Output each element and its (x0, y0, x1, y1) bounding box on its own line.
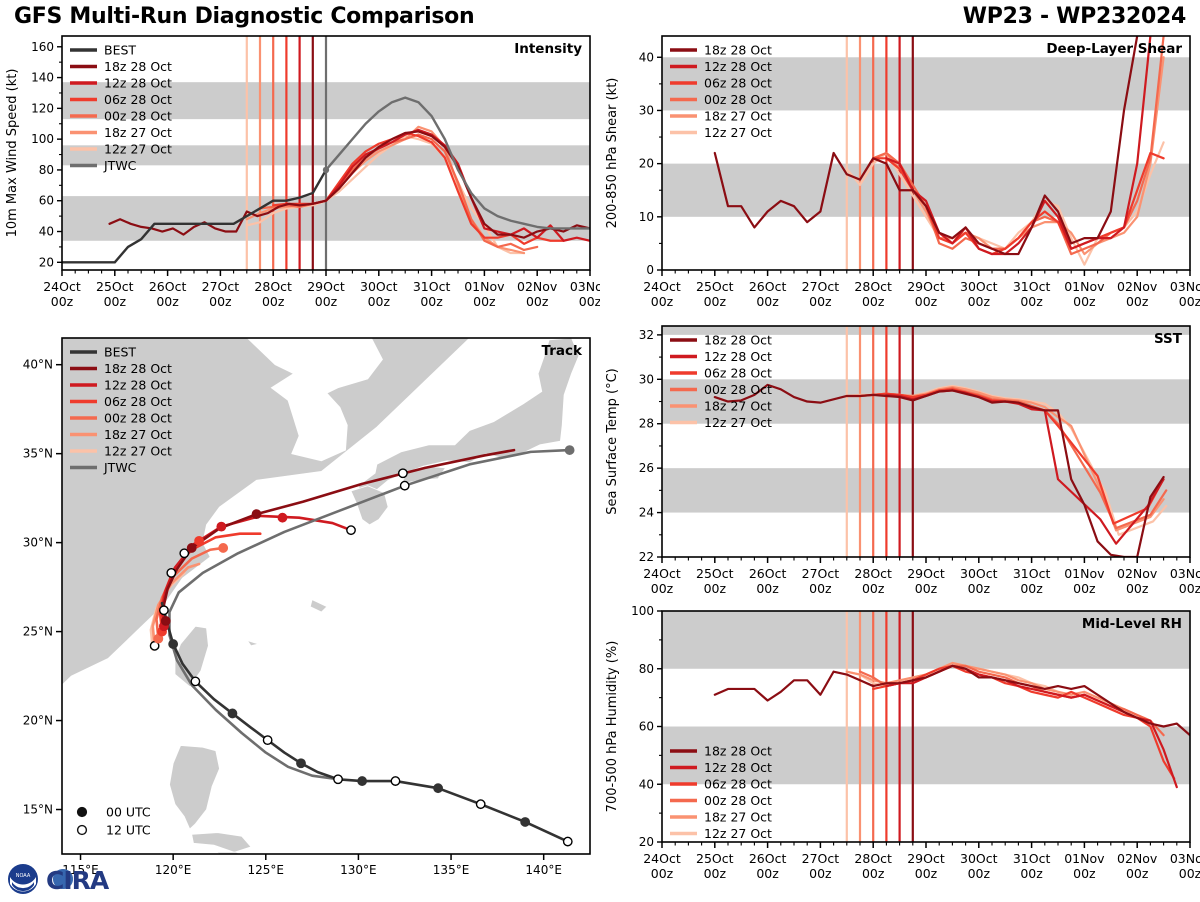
x-tick-sublabel: 00z (1073, 581, 1096, 596)
x-axis: 24Oct00z25Oct00z26Oct00z27Oct00z28Oct00z… (643, 842, 1200, 881)
y-axis-label-intensity: 10m Max Wind Speed (kt) (5, 69, 20, 238)
track-time-marker (334, 775, 342, 783)
track-time-marker (565, 446, 573, 454)
y-axis: 010203040 (639, 50, 662, 277)
map-x-tick-label: 140°E (525, 863, 562, 877)
panel-title-shear: Deep-Layer Shear (1046, 41, 1182, 57)
x-tick-sublabel: 00z (1126, 294, 1149, 309)
track-time-marker (401, 481, 409, 489)
track-time-marker (167, 569, 175, 577)
legend-label: 18z 27 Oct (104, 427, 172, 442)
legend-label: 18z 27 Oct (704, 810, 772, 825)
x-tick-label: 02Nov (1117, 566, 1158, 581)
x-tick-sublabel: 00z (473, 294, 496, 309)
track-time-marker (476, 800, 484, 808)
legend-label: 00z 28 Oct (104, 109, 172, 124)
x-tick-sublabel: 00z (368, 294, 391, 309)
map-x-tick-label: 130°E (340, 863, 377, 877)
x-tick-sublabel: 00z (704, 294, 727, 309)
x-tick-label: 24Oct (643, 566, 681, 581)
x-tick-sublabel: 00z (862, 294, 885, 309)
legend-label: JTWC (103, 158, 137, 173)
y-axis-label-rh: 700-500 hPa Humidity (%) (605, 641, 620, 813)
y-tick-label: 24 (639, 506, 654, 520)
y-tick-label: 80 (39, 163, 54, 177)
x-tick-label: 31Oct (1013, 566, 1051, 581)
x-axis: 24Oct00z25Oct00z26Oct00z27Oct00z28Oct00z… (643, 557, 1200, 596)
legend-marker-label: 12 UTC (106, 823, 151, 838)
map-y-axis: 15°N20°N25°N30°N35°N40°N (23, 358, 62, 817)
x-tick-sublabel: 00z (704, 866, 727, 881)
y-tick-label: 60 (39, 194, 54, 208)
x-tick-sublabel: 00z (262, 294, 285, 309)
legend-label: 12z 27 Oct (104, 444, 172, 459)
x-tick-label: 26Oct (749, 566, 787, 581)
x-tick-label: 25Oct (696, 566, 734, 581)
x-tick-sublabel: 00z (1020, 581, 1043, 596)
cira-wordmark: CIRA (46, 866, 110, 895)
chart-intensity: 2040608010012014016024Oct00z25Oct00z26Oc… (0, 28, 600, 328)
track-time-marker (252, 510, 260, 518)
x-tick-label: 01Nov (1064, 279, 1105, 294)
y-tick-label: 100 (31, 132, 54, 146)
legend-label: 12z 28 Oct (704, 760, 772, 775)
map-y-tick-label: 15°N (23, 803, 53, 817)
map-y-tick-label: 20°N (23, 714, 53, 728)
y-tick-label: 160 (31, 40, 54, 54)
panel-shear: 01020304024Oct00z25Oct00z26Oct00z27Oct00… (600, 28, 1200, 328)
page-title-right: WP23 - WP232024 (963, 4, 1186, 29)
x-tick-sublabel: 00z (651, 294, 674, 309)
track-time-marker (228, 709, 236, 717)
x-tick-label: 01Nov (464, 279, 505, 294)
x-tick-label: 24Oct (43, 279, 81, 294)
legend-label: 06z 28 Oct (104, 92, 172, 107)
legend-label: 18z 27 Oct (704, 399, 772, 414)
y-tick-label: 20 (639, 835, 654, 849)
chart-track: 15°N20°N25°N30°N35°N40°N115°E120°E125°E1… (0, 330, 600, 900)
marker-00utc-icon (78, 808, 87, 817)
y-tick-label: 32 (639, 328, 654, 342)
y-axis: 222426283032 (639, 328, 662, 564)
track-time-marker (391, 777, 399, 785)
y-tick-label: 26 (639, 461, 654, 475)
x-tick-sublabel: 00z (651, 581, 674, 596)
x-axis: 24Oct00z25Oct00z26Oct00z27Oct00z28Oct00z… (643, 270, 1200, 309)
x-tick-label: 29Oct (907, 566, 945, 581)
panel-track: 15°N20°N25°N30°N35°N40°N115°E120°E125°E1… (0, 330, 600, 900)
map-y-tick-label: 30°N (23, 536, 53, 550)
svg-text:NOAA: NOAA (16, 873, 31, 879)
legend-label: 00z 28 Oct (704, 793, 772, 808)
x-tick-label: 28Oct (854, 279, 892, 294)
x-tick-label: 25Oct (696, 851, 734, 866)
x-tick-label: 03Nov (1170, 566, 1200, 581)
track-time-marker (162, 617, 170, 625)
y-tick-label: 40 (639, 777, 654, 791)
track-time-marker (358, 777, 366, 785)
x-tick-sublabel: 00z (862, 581, 885, 596)
x-tick-label: 03Nov (1170, 851, 1200, 866)
x-tick-label: 27Oct (802, 566, 840, 581)
x-tick-sublabel: 00z (526, 294, 549, 309)
track-time-marker (217, 522, 225, 530)
jtwc-start-marker (323, 167, 329, 173)
x-tick-sublabel: 00z (756, 294, 779, 309)
x-tick-sublabel: 00z (1126, 866, 1149, 881)
x-tick-label: 31Oct (1013, 279, 1051, 294)
map-y-tick-label: 35°N (23, 447, 53, 461)
cira-noaa-logo: NOAA CIRA (6, 862, 126, 898)
x-tick-sublabel: 00z (809, 294, 832, 309)
x-tick-label: 26Oct (149, 279, 187, 294)
panel-title-sst: SST (1154, 331, 1183, 347)
x-tick-label: 24Oct (643, 851, 681, 866)
track-time-marker (399, 469, 407, 477)
track-time-marker (297, 759, 305, 767)
x-tick-label: 29Oct (907, 851, 945, 866)
x-tick-label: 25Oct (96, 279, 134, 294)
x-tick-sublabel: 00z (1179, 294, 1200, 309)
x-tick-sublabel: 00z (1126, 581, 1149, 596)
x-tick-label: 27Oct (802, 851, 840, 866)
y-tick-label: 30 (639, 372, 654, 386)
legend-label: 18z 27 Oct (704, 109, 772, 124)
track-time-marker (169, 640, 177, 648)
map-x-tick-label: 125°E (248, 863, 285, 877)
x-tick-sublabel: 00z (968, 581, 991, 596)
marker-12utc-icon (78, 826, 87, 835)
track-time-marker (187, 544, 195, 552)
y-tick-label: 20 (639, 157, 654, 171)
x-tick-label: 25Oct (696, 279, 734, 294)
panel-sst: 22242628303224Oct00z25Oct00z26Oct00z27Oc… (600, 318, 1200, 613)
x-tick-sublabel: 00z (1073, 866, 1096, 881)
x-tick-sublabel: 00z (1179, 581, 1200, 596)
legend-label: 00z 28 Oct (704, 382, 772, 397)
x-tick-label: 28Oct (854, 851, 892, 866)
y-tick-label: 28 (639, 417, 654, 431)
x-tick-sublabel: 00z (862, 866, 885, 881)
legend-label: 06z 28 Oct (104, 394, 172, 409)
panel-title-track: Track (542, 343, 583, 359)
y-tick-label: 20 (39, 255, 54, 269)
y-tick-label: 80 (639, 662, 654, 676)
x-tick-label: 02Nov (1117, 851, 1158, 866)
x-tick-sublabel: 00z (51, 294, 74, 309)
x-tick-label: 26Oct (749, 279, 787, 294)
panel-intensity: 2040608010012014016024Oct00z25Oct00z26Oc… (0, 28, 600, 328)
y-tick-label: 60 (639, 720, 654, 734)
legend-label: 06z 28 Oct (704, 777, 772, 792)
map-y-tick-label: 25°N (23, 625, 53, 639)
x-tick-label: 30Oct (360, 279, 398, 294)
x-tick-label: 30Oct (960, 279, 998, 294)
legend-label: 12z 27 Oct (704, 826, 772, 841)
x-tick-sublabel: 00z (756, 866, 779, 881)
x-tick-sublabel: 00z (809, 581, 832, 596)
track-time-marker (564, 837, 572, 845)
track-time-marker (219, 544, 227, 552)
track-time-marker (347, 526, 355, 534)
y-axis-label-shear: 200-850 hPa Shear (kt) (605, 78, 620, 229)
legend-label: 06z 28 Oct (704, 76, 772, 91)
track-time-marker (521, 818, 529, 826)
x-tick-sublabel: 00z (315, 294, 338, 309)
x-tick-sublabel: 00z (809, 866, 832, 881)
x-tick-sublabel: 00z (156, 294, 179, 309)
y-tick-label: 30 (639, 103, 654, 117)
track-time-marker (434, 784, 442, 792)
track-time-marker (180, 549, 188, 557)
x-tick-label: 28Oct (254, 279, 292, 294)
legend-label: BEST (104, 345, 136, 360)
map-y-tick-label: 40°N (23, 358, 53, 372)
legend-label: 12z 28 Oct (104, 378, 172, 393)
x-tick-sublabel: 00z (915, 294, 938, 309)
y-axis: 20406080100 (631, 604, 662, 849)
x-tick-label: 29Oct (307, 279, 345, 294)
legend-label: 18z 28 Oct (704, 333, 772, 348)
track-time-marker (191, 677, 199, 685)
x-tick-sublabel: 00z (579, 294, 600, 309)
track-time-marker (278, 514, 286, 522)
x-tick-label: 30Oct (960, 566, 998, 581)
legend-marker-label: 00 UTC (106, 805, 151, 820)
panel-rh: 2040608010024Oct00z25Oct00z26Oct00z27Oct… (600, 603, 1200, 900)
x-axis: 24Oct00z25Oct00z26Oct00z27Oct00z28Oct00z… (43, 270, 600, 309)
x-tick-label: 31Oct (413, 279, 451, 294)
legend-label: 18z 28 Oct (104, 59, 172, 74)
x-tick-sublabel: 00z (704, 581, 727, 596)
track-time-marker (160, 606, 168, 614)
chart-rh: 2040608010024Oct00z25Oct00z26Oct00z27Oct… (600, 603, 1200, 900)
y-tick-label: 120 (31, 101, 54, 115)
noaa-icon: NOAA (8, 864, 38, 894)
y-tick-label: 100 (631, 604, 654, 618)
x-tick-label: 29Oct (907, 279, 945, 294)
chart-sst: 22242628303224Oct00z25Oct00z26Oct00z27Oc… (600, 318, 1200, 613)
legend-label: 12z 28 Oct (104, 76, 172, 91)
x-tick-label: 03Nov (1170, 279, 1200, 294)
y-tick-label: 40 (39, 225, 54, 239)
y-tick-label: 10 (639, 210, 654, 224)
page-title-left: GFS Multi-Run Diagnostic Comparison (14, 4, 474, 29)
legend-label: 12z 27 Oct (704, 125, 772, 140)
x-tick-label: 02Nov (517, 279, 558, 294)
x-tick-label: 31Oct (1013, 851, 1051, 866)
x-tick-sublabel: 00z (1020, 866, 1043, 881)
x-tick-label: 24Oct (643, 279, 681, 294)
track-time-marker (263, 736, 271, 744)
x-tick-sublabel: 00z (915, 581, 938, 596)
y-tick-label: 40 (639, 50, 654, 64)
figure-root: GFS Multi-Run Diagnostic Comparison WP23… (0, 0, 1200, 900)
x-tick-sublabel: 00z (420, 294, 443, 309)
x-tick-sublabel: 00z (104, 294, 127, 309)
x-tick-label: 30Oct (960, 851, 998, 866)
x-tick-sublabel: 00z (968, 866, 991, 881)
map-x-axis: 115°E120°E125°E130°E135°E140°E (62, 854, 562, 877)
legend-label: 00z 28 Oct (704, 92, 772, 107)
legend-label: 00z 28 Oct (104, 411, 172, 426)
x-tick-label: 02Nov (1117, 279, 1158, 294)
x-tick-label: 01Nov (1064, 566, 1105, 581)
y-tick-label: 140 (31, 71, 54, 85)
x-tick-sublabel: 00z (209, 294, 232, 309)
legend-label: 18z 27 Oct (104, 125, 172, 140)
x-tick-sublabel: 00z (1073, 294, 1096, 309)
legend-label: 12z 27 Oct (704, 415, 772, 430)
y-axis: 20406080100120140160 (31, 40, 62, 270)
legend-label: 12z 28 Oct (704, 349, 772, 364)
legend-label: 18z 28 Oct (104, 361, 172, 376)
x-tick-label: 01Nov (1064, 851, 1105, 866)
y-axis-label-sst: Sea Surface Temp (°C) (605, 368, 620, 515)
x-tick-sublabel: 00z (1020, 294, 1043, 309)
legend-label: BEST (104, 43, 136, 58)
x-tick-sublabel: 00z (968, 294, 991, 309)
panel-title-rh: Mid-Level RH (1082, 616, 1182, 632)
legend-label: 12z 28 Oct (704, 59, 772, 74)
chart-shear: 01020304024Oct00z25Oct00z26Oct00z27Oct00… (600, 28, 1200, 328)
svg-text:CIRA: CIRA (46, 866, 110, 895)
map-x-tick-label: 135°E (433, 863, 470, 877)
x-tick-label: 26Oct (749, 851, 787, 866)
x-tick-sublabel: 00z (915, 866, 938, 881)
legend-label: JTWC (103, 460, 137, 475)
legend-label: 18z 28 Oct (704, 43, 772, 58)
x-tick-label: 03Nov (570, 279, 600, 294)
y-tick-label: 0 (646, 263, 654, 277)
map-x-tick-label: 120°E (155, 863, 192, 877)
legend-label: 18z 28 Oct (704, 744, 772, 759)
y-tick-label: 22 (639, 550, 654, 564)
panel-title-intensity: Intensity (514, 41, 582, 57)
x-tick-sublabel: 00z (651, 866, 674, 881)
x-tick-sublabel: 00z (756, 581, 779, 596)
x-tick-sublabel: 00z (1179, 866, 1200, 881)
x-tick-label: 27Oct (802, 279, 840, 294)
x-tick-label: 28Oct (854, 566, 892, 581)
legend-label: 12z 27 Oct (104, 142, 172, 157)
legend-label: 06z 28 Oct (704, 366, 772, 381)
x-tick-label: 27Oct (202, 279, 240, 294)
track-time-marker (195, 537, 203, 545)
